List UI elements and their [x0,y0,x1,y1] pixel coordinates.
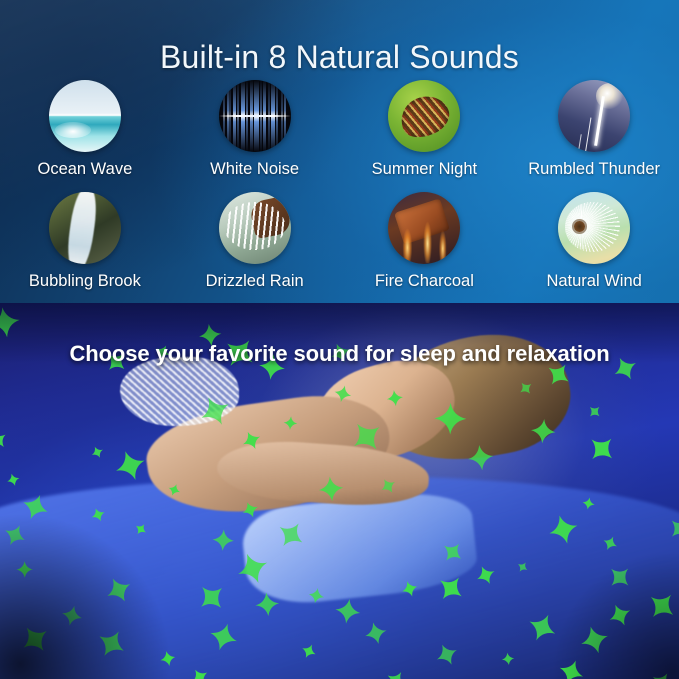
ocean-wave-icon [49,80,121,152]
sound-item-ocean-wave[interactable]: Ocean Wave [0,80,170,195]
sound-label: Summer Night [372,160,477,179]
sound-label: Drizzled Rain [206,272,304,291]
sound-label: Rumbled Thunder [528,160,660,179]
waterfall-icon [49,192,121,264]
sound-item-summer-night[interactable]: Summer Night [340,80,510,195]
sound-item-bubbling-brook[interactable]: Bubbling Brook [0,192,170,303]
sound-label: Natural Wind [546,272,641,291]
sound-row-second: Bubbling Brook Drizzled Rain Fire Charco… [0,192,679,303]
sound-label: Fire Charcoal [375,272,474,291]
sound-item-natural-wind[interactable]: Natural Wind [509,192,679,303]
dandelion-icon [558,192,630,264]
cicada-icon [388,80,460,152]
lace-nightgown [120,357,240,426]
sound-item-fire-charcoal[interactable]: Fire Charcoal [340,192,510,303]
sounds-panel: Built-in 8 Natural Sounds Ocean Wave [0,0,679,303]
rain-drizzle-icon [219,192,291,264]
sound-label: Ocean Wave [37,160,132,179]
sound-item-drizzled-rain[interactable]: Drizzled Rain [170,192,340,303]
sleep-scene-photo: Choose your favorite sound for sleep and… [0,303,679,679]
sound-item-white-noise[interactable]: White Noise [170,80,340,195]
lightning-storm-icon [558,80,630,152]
sound-row-first: Ocean Wave White Noise [0,80,679,195]
sound-label: Bubbling Brook [29,272,141,291]
page-title: Built-in 8 Natural Sounds [0,39,679,76]
sound-item-rumbled-thunder[interactable]: Rumbled Thunder [509,80,679,195]
photo-caption: Choose your favorite sound for sleep and… [0,341,679,367]
white-noise-waveform-icon [219,80,291,152]
sound-label: White Noise [210,160,299,179]
waveform-bars [219,80,291,152]
product-feature-image: Built-in 8 Natural Sounds Ocean Wave [0,0,679,679]
campfire-icon [388,192,460,264]
